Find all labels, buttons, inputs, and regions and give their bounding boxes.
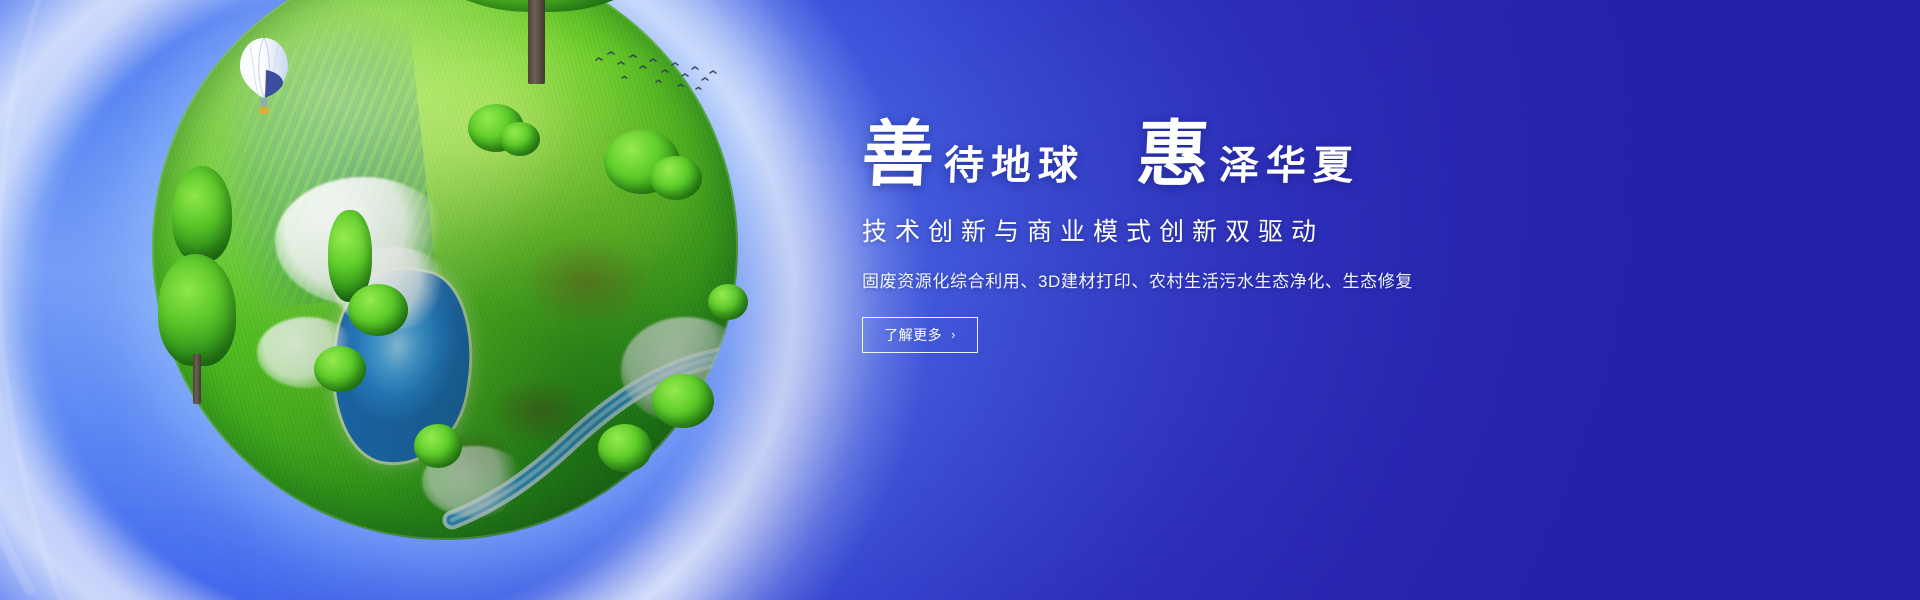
headline-char-1: 善 — [860, 118, 936, 190]
headline-text-2: 泽华夏 — [1218, 146, 1360, 186]
headline: 善 待地球 惠 泽华夏 — [862, 118, 1842, 190]
learn-more-button[interactable]: 了解更多 › — [862, 317, 978, 353]
banner-description: 固废资源化综合利用、3D建材打印、农村生活污水生态净化、生态修复 — [862, 267, 1842, 292]
learn-more-label: 了解更多 — [884, 325, 942, 345]
chevron-right-icon: › — [951, 328, 956, 341]
headline-text-1: 待地球 — [943, 146, 1085, 186]
hero-banner: 善 待地球 惠 泽华夏 技术创新与商业模式创新双驱动 固废资源化综合利用、3D建… — [0, 0, 1920, 600]
banner-subtitle: 技术创新与商业模式创新双驱动 — [862, 212, 1842, 248]
banner-content: 善 待地球 惠 泽华夏 技术创新与商业模式创新双驱动 固废资源化综合利用、3D建… — [862, 118, 1842, 353]
headline-char-2: 惠 — [1135, 118, 1211, 190]
